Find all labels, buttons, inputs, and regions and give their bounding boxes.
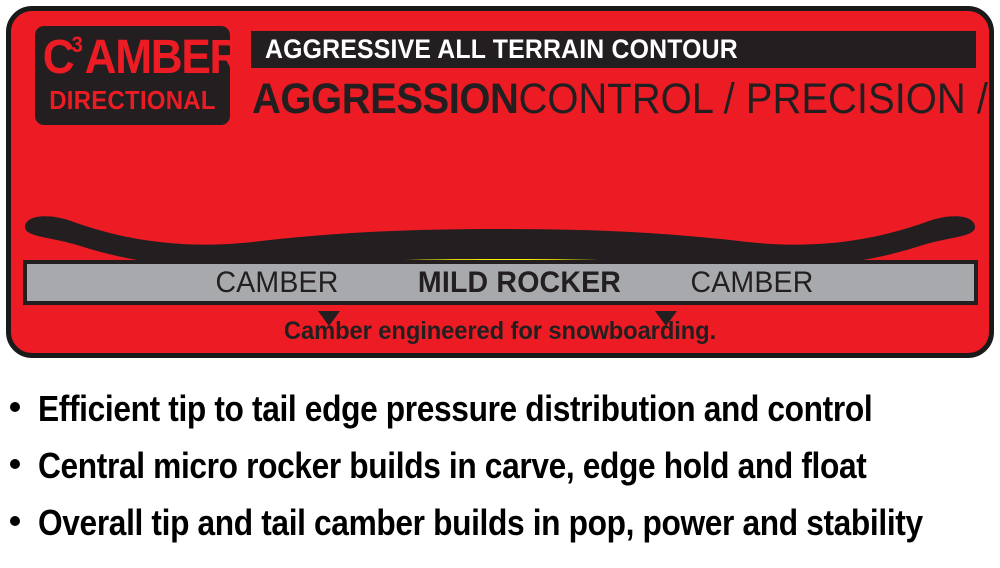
zone-label-mild-rocker: MILD ROCKER — [417, 264, 621, 301]
bullet-dot-icon — [10, 459, 20, 469]
bullet-dot-icon — [10, 402, 20, 412]
list-item: Efficient tip to tail edge pressure dist… — [0, 380, 1000, 437]
logo-wordmark: C3AMBER — [43, 28, 222, 88]
logo-superscript-3: 3 — [72, 32, 83, 57]
zone-label-camber-right: CAMBER — [686, 264, 819, 301]
red-info-panel: C3AMBER DIRECTIONAL AGGRESSIVE ALL TERRA… — [6, 6, 994, 358]
logo-letter-c: C — [43, 31, 74, 84]
feature-bullet-list: Efficient tip to tail edge pressure dist… — [0, 380, 1000, 551]
camber-directional-logo-badge: C3AMBER DIRECTIONAL — [35, 26, 230, 125]
bullet-text: Overall tip and tail camber builds in po… — [38, 494, 923, 551]
camber-directional-infographic: C3AMBER DIRECTIONAL AGGRESSIVE ALL TERRA… — [0, 0, 1000, 568]
subhead-line: AGGRESSIONCONTROL / PRECISION / POWER — [252, 73, 994, 125]
list-item: Central micro rocker builds in carve, ed… — [0, 437, 1000, 494]
subhead-strong: AGGRESSION — [252, 75, 518, 123]
bullet-text: Central micro rocker builds in carve, ed… — [38, 437, 866, 494]
logo-word-amber: AMBER — [85, 31, 240, 84]
subhead-light: CONTROL / PRECISION / POWER — [518, 75, 994, 123]
panel-caption: Camber engineered for snowboarding. — [35, 317, 964, 346]
headline-bar: AGGRESSIVE ALL TERRAIN CONTOUR — [251, 31, 976, 68]
zone-label-camber-left: CAMBER — [211, 264, 344, 301]
list-item: Overall tip and tail camber builds in po… — [0, 494, 1000, 551]
bullet-dot-icon — [10, 516, 20, 526]
zone-legend-bar: CAMBER MILD ROCKER CAMBER — [23, 260, 978, 305]
bullet-text: Efficient tip to tail edge pressure dist… — [38, 380, 872, 437]
headline-text: AGGRESSIVE ALL TERRAIN CONTOUR — [265, 31, 738, 68]
logo-subtitle: DIRECTIONAL — [43, 85, 222, 115]
